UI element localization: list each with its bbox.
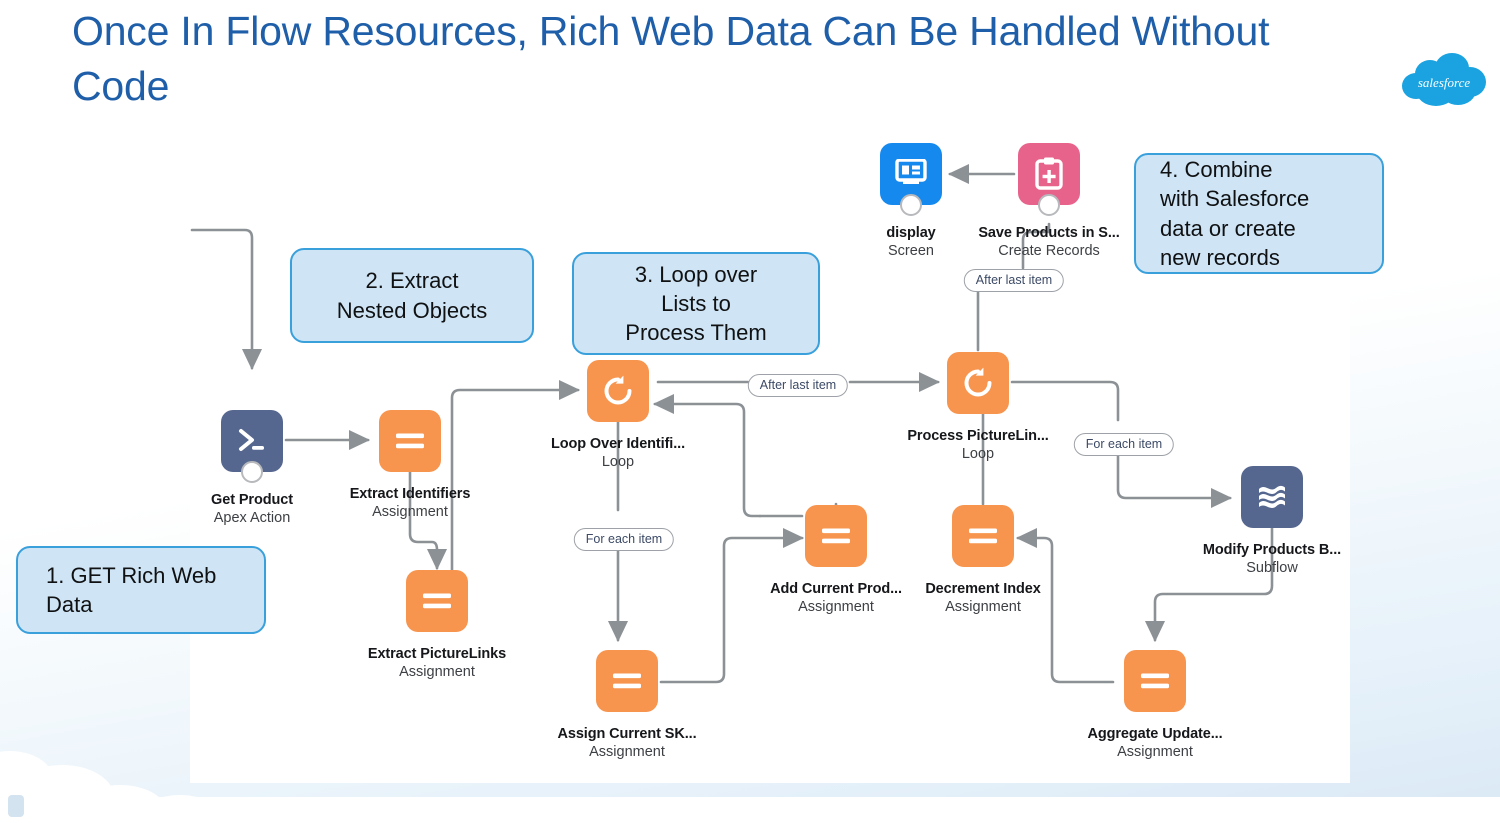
- assignment-icon: [596, 650, 658, 712]
- pill-after-last-item-loop1: After last item: [748, 374, 848, 397]
- node-label: Extract Identifiers: [335, 486, 485, 502]
- flow-node-display[interactable]: display Screen: [836, 143, 986, 259]
- flow-node-save-products[interactable]: Save Products in S... Create Records: [974, 143, 1124, 259]
- node-label: Aggregate Update...: [1080, 726, 1230, 742]
- loop-icon: [947, 352, 1009, 414]
- node-label: Save Products in S...: [974, 225, 1124, 241]
- flow-node-extract-picturelinks[interactable]: Extract PictureLinks Assignment: [362, 570, 512, 680]
- flow-node-get-product[interactable]: Get Product Apex Action: [177, 410, 327, 526]
- flow-node-assign-current-sku[interactable]: Assign Current SK... Assignment: [552, 650, 702, 760]
- pill-for-each-item-loop2: For each item: [1074, 433, 1174, 456]
- node-label: Modify Products B...: [1197, 542, 1347, 558]
- node-type: Assignment: [761, 599, 911, 615]
- assignment-icon: [379, 410, 441, 472]
- node-type: Assignment: [552, 744, 702, 760]
- node-type: Apex Action: [177, 510, 327, 526]
- node-label: Process PictureLin...: [903, 428, 1053, 444]
- screen-icon: [880, 143, 942, 205]
- node-type: Screen: [836, 243, 986, 259]
- node-label: Extract PictureLinks: [362, 646, 512, 662]
- flow-node-extract-identifiers[interactable]: Extract Identifiers Assignment: [335, 410, 485, 520]
- salesforce-cloud-logo: salesforce: [1400, 52, 1488, 110]
- flow-node-modify-products[interactable]: Modify Products B... Subflow: [1197, 466, 1347, 576]
- create-records-icon: [1018, 143, 1080, 205]
- node-label: Decrement Index: [908, 581, 1058, 597]
- flow-node-loop-over-identifiers[interactable]: Loop Over Identifi... Loop: [543, 360, 693, 470]
- connector-dot: [241, 461, 263, 483]
- callout-1-get-rich-web-data: 1. GET Rich Web Data: [16, 546, 266, 634]
- page-title: Once In Flow Resources, Rich Web Data Ca…: [72, 4, 1362, 114]
- assignment-icon: [952, 505, 1014, 567]
- connector-dot: [900, 194, 922, 216]
- node-type: Create Records: [974, 243, 1124, 259]
- assignment-icon: [406, 570, 468, 632]
- node-label: Get Product: [177, 492, 327, 508]
- callout-2-extract-nested-objects: 2. Extract Nested Objects: [290, 248, 534, 343]
- subflow-icon: [1241, 466, 1303, 528]
- loop-icon: [587, 360, 649, 422]
- callout-text: 4. Combine with Salesforce data or creat…: [1136, 155, 1382, 271]
- node-type: Assignment: [335, 504, 485, 520]
- flow-node-add-current-product[interactable]: Add Current Prod... Assignment: [761, 505, 911, 615]
- node-type: Subflow: [1197, 560, 1347, 576]
- node-label: Loop Over Identifi...: [543, 436, 693, 452]
- salesforce-wordmark: salesforce: [1418, 75, 1470, 90]
- node-type: Assignment: [1080, 744, 1230, 760]
- pill-for-each-item-loop1: For each item: [574, 528, 674, 551]
- pill-after-last-item-save: After last item: [964, 269, 1064, 292]
- assignment-icon: [805, 505, 867, 567]
- callout-4-combine-with-salesforce: 4. Combine with Salesforce data or creat…: [1134, 153, 1384, 274]
- flow-node-aggregate-update[interactable]: Aggregate Update... Assignment: [1080, 650, 1230, 760]
- apex-action-icon: [221, 410, 283, 472]
- flow-node-process-picturelinks[interactable]: Process PictureLin... Loop: [903, 352, 1053, 462]
- flow-node-decrement-index[interactable]: Decrement Index Assignment: [908, 505, 1058, 615]
- node-type: Loop: [543, 454, 693, 470]
- node-type: Loop: [903, 446, 1053, 462]
- node-type: Assignment: [362, 664, 512, 680]
- assignment-icon: [1124, 650, 1186, 712]
- callout-text: 2. Extract Nested Objects: [292, 266, 532, 324]
- callout-text: 1. GET Rich Web Data: [18, 561, 264, 619]
- node-label: Assign Current SK...: [552, 726, 702, 742]
- node-type: Assignment: [908, 599, 1058, 615]
- callout-3-loop-over-lists: 3. Loop over Lists to Process Them: [572, 252, 820, 355]
- callout-text: 3. Loop over Lists to Process Them: [574, 260, 818, 347]
- connector-dot: [1038, 194, 1060, 216]
- node-label: display: [836, 225, 986, 241]
- node-label: Add Current Prod...: [761, 581, 911, 597]
